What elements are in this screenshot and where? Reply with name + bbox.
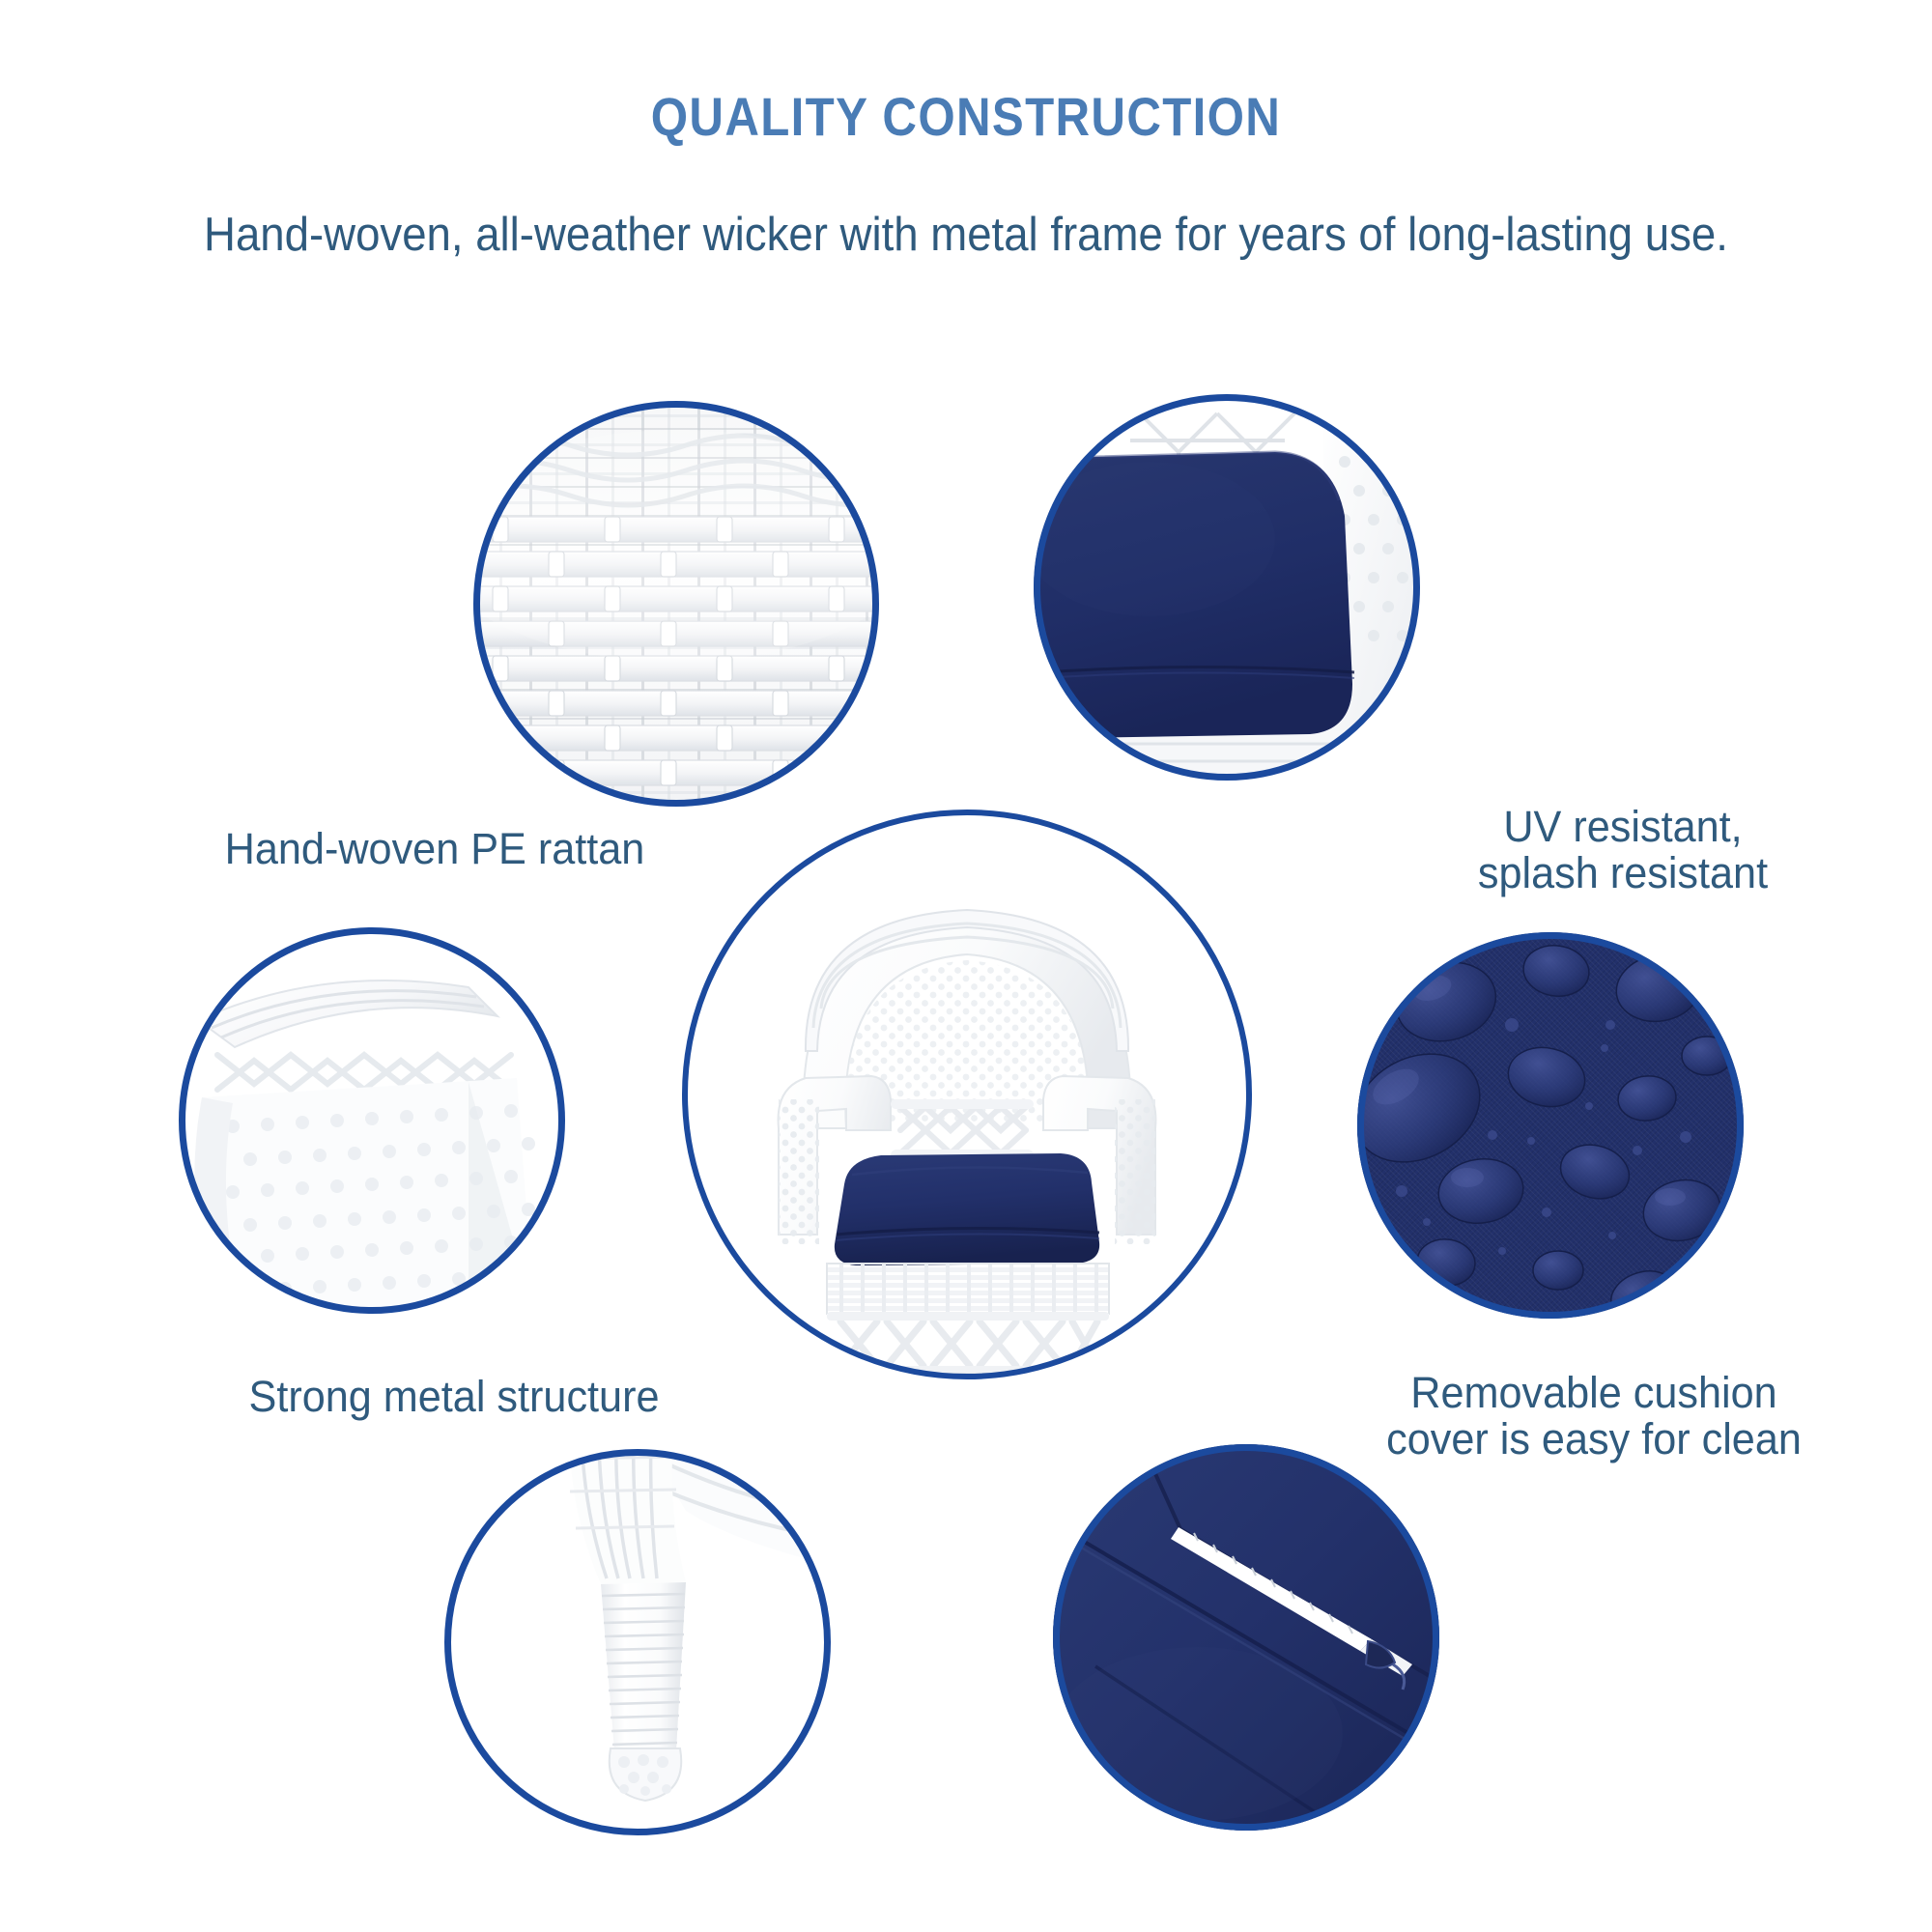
feature-caption-hand-woven-pe-rattan: Hand-woven PE rattan (175, 826, 695, 872)
feature-image-chair-leg (444, 1449, 831, 1835)
feature-image-strong-metal-structure (179, 927, 565, 1314)
water-droplets-icon (1357, 932, 1744, 1319)
feature-image-water-droplets (1357, 932, 1744, 1319)
product-hero-image (682, 810, 1252, 1379)
header: QUALITY CONSTRUCTION Hand-woven, all-wea… (0, 0, 1932, 262)
feature-image-uv-splash-resistant (1034, 394, 1420, 781)
feature-image-hand-woven-pe-rattan (473, 401, 879, 807)
wicker-chair-leg-icon (444, 1449, 831, 1835)
feature-caption-strong-metal-structure: Strong metal structure (166, 1374, 741, 1420)
wicker-armchair-icon (682, 810, 1252, 1379)
navy-cushion-icon (1034, 394, 1420, 781)
cushion-zipper-icon (1053, 1444, 1439, 1831)
wicker-weave-icon (473, 401, 879, 807)
page-title: QUALITY CONSTRUCTION (116, 85, 1816, 148)
feature-caption-uv-splash-resistant: UV resistant, splash resistant (1401, 804, 1846, 896)
wicker-arm-corner-icon (179, 927, 565, 1314)
page-subtitle: Hand-woven, all-weather wicker with meta… (68, 208, 1864, 262)
feature-image-cushion-zipper (1053, 1444, 1439, 1831)
